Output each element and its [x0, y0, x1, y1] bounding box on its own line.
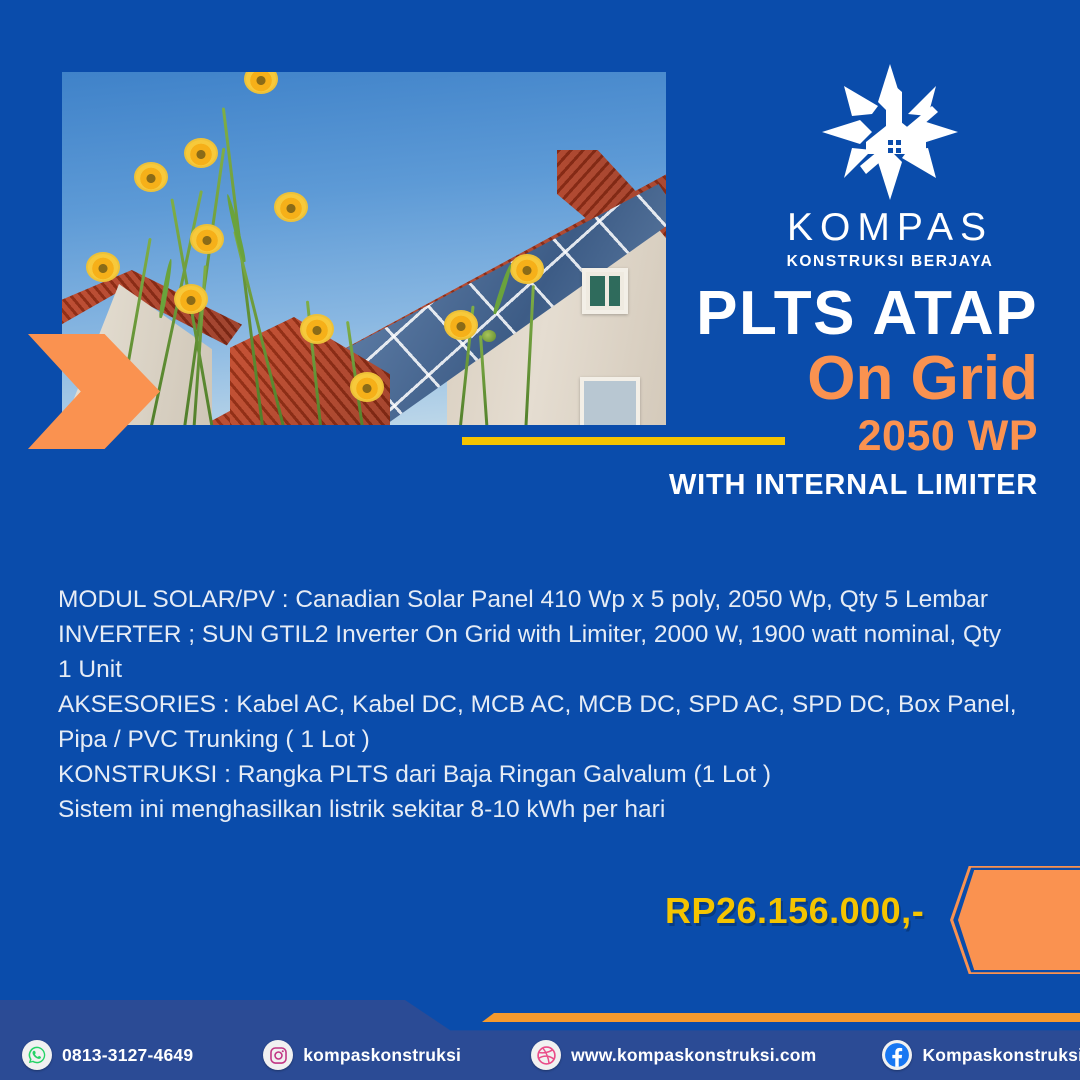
- spec-line-konstruksi: KONSTRUKSI : Rangka PLTS dari Baja Ringa…: [58, 757, 1018, 792]
- contact-instagram[interactable]: kompaskonstruksi: [263, 1040, 461, 1070]
- headline-subtitle: On Grid: [418, 347, 1038, 410]
- brand-logo: KOMPAS KONSTRUKSI BERJAYA: [740, 62, 1040, 270]
- instagram-handle: kompaskonstruksi: [303, 1045, 461, 1066]
- promotional-poster: KOMPAS KONSTRUKSI BERJAYA PLTS ATAP On G…: [0, 0, 1080, 1080]
- footer-orange-rule: [482, 1013, 1080, 1022]
- spec-line-output: Sistem ini menghasilkan listrik sekitar …: [58, 792, 1018, 827]
- spec-line-inverter: INVERTER ; SUN GTIL2 Inverter On Grid wi…: [58, 617, 1018, 687]
- yellow-divider: [462, 437, 785, 445]
- facebook-page: Kompaskonstruksiberjaya: [922, 1045, 1080, 1066]
- footer-contact-bar: 0813-3127-4649 kompaskonstruksi www.komp…: [0, 1030, 1080, 1080]
- contact-website[interactable]: www.kompaskonstruksi.com: [531, 1040, 816, 1070]
- flower-bloom: [300, 314, 334, 344]
- spec-line-aksesories: AKSESORIES : Kabel AC, Kabel DC, MCB AC,…: [58, 687, 1018, 757]
- website-url: www.kompaskonstruksi.com: [571, 1045, 816, 1066]
- whatsapp-icon: [22, 1040, 52, 1070]
- flower-bloom: [274, 192, 308, 222]
- specification-list: MODUL SOLAR/PV : Canadian Solar Panel 41…: [58, 582, 1018, 827]
- limiter-label: WITH INTERNAL LIMITER: [418, 469, 1038, 502]
- flower-bloom: [134, 162, 168, 192]
- compass-star-logo-icon: [820, 62, 960, 202]
- flower-bloom: [190, 224, 224, 254]
- whatsapp-number: 0813-3127-4649: [62, 1045, 193, 1066]
- price-label: RP26.156.000,-: [665, 890, 924, 932]
- flower-bloom: [510, 254, 544, 284]
- instagram-icon: [263, 1040, 293, 1070]
- dribbble-globe-icon: [531, 1040, 561, 1070]
- headline-block: PLTS ATAP On Grid 2050 WP WITH INTERNAL …: [418, 284, 1038, 502]
- logo-wordmark: KOMPAS: [740, 208, 1040, 247]
- flower-bloom: [184, 138, 218, 168]
- flower-bloom: [174, 284, 208, 314]
- logo-tagline: KONSTRUKSI BERJAYA: [740, 254, 1040, 270]
- contact-facebook[interactable]: Kompaskonstruksiberjaya: [882, 1040, 1080, 1070]
- leaf: [158, 258, 173, 318]
- flower-bloom: [350, 372, 384, 402]
- flower-bloom: [86, 252, 120, 282]
- page-title: PLTS ATAP: [418, 284, 1038, 345]
- spec-line-modul: MODUL SOLAR/PV : Canadian Solar Panel 41…: [58, 582, 1018, 617]
- facebook-icon: [882, 1040, 912, 1070]
- flower-bloom: [244, 72, 278, 94]
- price-arrow-shape-icon: [950, 866, 1080, 974]
- contact-whatsapp[interactable]: 0813-3127-4649: [22, 1040, 193, 1070]
